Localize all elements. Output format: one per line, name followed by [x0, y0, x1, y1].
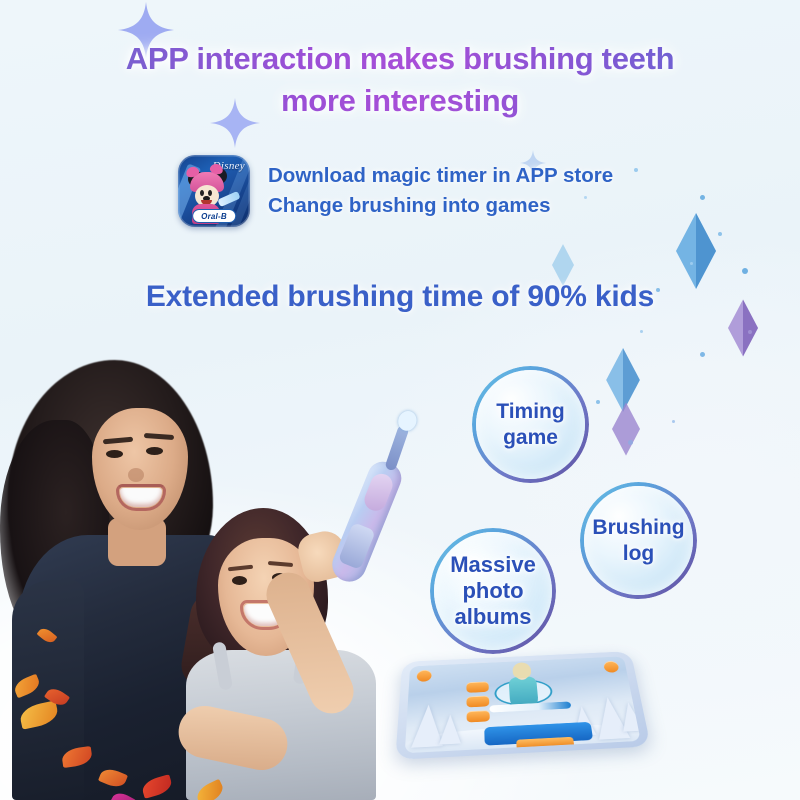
- phone-screen[interactable]: [405, 656, 641, 753]
- feature-bubble-label: Massive photo albums: [430, 552, 556, 630]
- app-menu-button-2[interactable]: [466, 696, 489, 708]
- sparkle-dot: [718, 232, 722, 236]
- sparkle-dot: [640, 330, 643, 333]
- app-promo-text: Download magic timer in APP store Change…: [268, 161, 613, 221]
- sparkle-dot: [690, 262, 693, 265]
- banner-canvas: APP interaction makes brushing teeth mor…: [0, 0, 800, 800]
- page-title: APP interaction makes brushing teeth mor…: [0, 38, 800, 122]
- ice-crystal-icon: [606, 348, 640, 417]
- elsa-hair: [512, 662, 531, 679]
- mother-arm: [12, 580, 84, 800]
- toothbrush-neck: [384, 424, 409, 471]
- electric-toothbrush: [320, 399, 434, 589]
- toothbrush-handle: [327, 457, 406, 587]
- feature-bubble-label: Brushing log: [592, 515, 684, 567]
- smartphone-mockup[interactable]: [395, 651, 651, 760]
- family-photo: [0, 360, 430, 800]
- disney-magic-timer-app-icon[interactable]: Disney Oral-B: [178, 155, 250, 227]
- settings-button-icon[interactable]: [603, 661, 619, 673]
- feature-bubble-timing-game[interactable]: Timing game: [472, 366, 589, 483]
- oral-b-badge: Oral-B: [192, 209, 236, 223]
- minnie-eye-right-icon: [208, 190, 212, 196]
- mother-nose: [128, 468, 144, 482]
- mother-eye-left: [106, 450, 123, 458]
- sparkle-dot: [672, 420, 675, 423]
- back-button-icon[interactable]: [417, 670, 432, 682]
- girl-eye-left: [232, 576, 247, 585]
- mother-eye-right: [146, 447, 163, 455]
- sparkle-dot: [700, 352, 705, 357]
- claim-headline: Extended brushing time of 90% kids: [0, 280, 800, 314]
- snow-tree-icon: [439, 714, 461, 745]
- ice-crystal-icon: [612, 402, 640, 461]
- app-menu-button-1[interactable]: [466, 681, 488, 692]
- app-promo-row: Disney Oral-B Download magic timer in AP…: [178, 155, 613, 227]
- sparkle-dot: [628, 440, 633, 445]
- feature-bubble-brushing-log[interactable]: Brushing log: [580, 482, 697, 599]
- sparkle-dot: [596, 400, 600, 404]
- app-menu-button-3[interactable]: [467, 710, 490, 722]
- sparkle-dot: [748, 330, 752, 334]
- minnie-eye-left-icon: [200, 190, 204, 196]
- sparkle-dot: [700, 195, 705, 200]
- sparkle-dot: [634, 168, 638, 172]
- feature-bubble-photo-albums[interactable]: Massive photo albums: [430, 528, 556, 654]
- app-action-bar[interactable]: [516, 737, 574, 748]
- feature-bubble-label: Timing game: [496, 399, 564, 451]
- sparkle-dot: [742, 268, 748, 274]
